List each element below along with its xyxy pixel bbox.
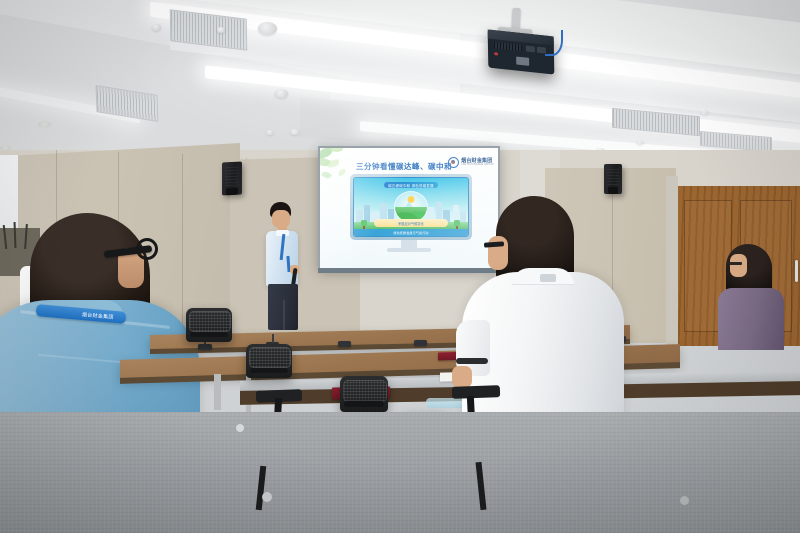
fg-center-forearm: [452, 366, 472, 388]
right-attendee-top: [718, 288, 784, 350]
slide-title: 三分钟看懂碳达峰、碳中和: [350, 161, 458, 172]
presenter-trouser-seam: [283, 300, 285, 330]
screen-bottom-bar: [318, 268, 500, 273]
smoke-detector-icon-1: [152, 24, 161, 31]
carpet-floor: [0, 412, 800, 533]
chair-back-row-2[interactable]: [246, 344, 292, 378]
smoke-detector-icon-6: [636, 140, 644, 145]
tree-icon-1: [361, 220, 367, 229]
smoke-detector-icon-2: [217, 27, 225, 33]
fg-left-badge-text: 烟台财金集团: [82, 311, 114, 321]
smoke-detector-icon-4: [266, 130, 274, 135]
fg-center-sleeve-trim: [456, 358, 488, 364]
company-name-en: YANTAI FINANCE GROUP: [461, 164, 494, 166]
door-handle-right[interactable]: [795, 260, 798, 282]
wall-speaker-right: [604, 164, 622, 194]
monitor-foot: [387, 248, 431, 252]
downlight-icon-1: [38, 121, 51, 128]
projection-screen: 三分钟看懂碳达峰、碳中和 烟台财金集团 YANTAI FINANCE GROUP…: [318, 146, 500, 270]
ceiling-fixture-icon-1: [290, 129, 300, 135]
fg-center-logo-patch: [540, 274, 556, 282]
slide-footer-text: 绿色低碳发展与气候行动: [354, 229, 468, 236]
caster-icon-3: [680, 496, 689, 505]
right-attendee-glasses-icon: [729, 262, 742, 265]
right-attendee-face: [730, 254, 747, 277]
ceiling-speaker-icon-1: [258, 22, 277, 35]
microphone-stem-2: [272, 334, 274, 343]
wall-panel-seam-3: [182, 154, 183, 344]
caster-icon-1: [236, 424, 244, 432]
slide-monitor-mock: 碳达峰碳中和 绿色低碳发展: [350, 174, 472, 240]
slide-monitor-screen: 碳达峰碳中和 绿色低碳发展: [353, 177, 469, 237]
chair-armrest-right[interactable]: [452, 385, 500, 399]
slide-banner: 碳达峰碳中和 绿色低碳发展: [384, 182, 438, 188]
smoke-detector-icon-3: [275, 89, 288, 98]
smoke-detector-icon-7: [700, 110, 709, 115]
company-logo-ring-icon: [448, 157, 459, 168]
chair-back-row-3[interactable]: [340, 376, 388, 412]
conference-microphone-4: [414, 340, 427, 346]
monitor-stand: [401, 240, 417, 248]
table-leg-1: [214, 374, 221, 410]
company-logo: 烟台财金集团 YANTAI FINANCE GROUP: [448, 157, 494, 168]
wall-speaker-left: [222, 161, 242, 195]
chair-back-row-1[interactable]: [186, 308, 232, 342]
door-jamb: [666, 176, 678, 348]
slide-banner-text: 碳达峰碳中和 绿色低碳发展: [384, 182, 438, 188]
conference-room-photo: 三分钟看懂碳达峰、碳中和 烟台财金集团 YANTAI FINANCE GROUP…: [0, 0, 800, 533]
caster-icon-2: [262, 492, 272, 502]
slide-pill-caption: 积极应对气候变化: [374, 219, 448, 227]
conference-microphone-3: [338, 341, 351, 347]
presentation-slide: 三分钟看懂碳达峰、碳中和 烟台财金集团 YANTAI FINANCE GROUP…: [320, 148, 498, 268]
tree-icon-2: [454, 220, 460, 229]
